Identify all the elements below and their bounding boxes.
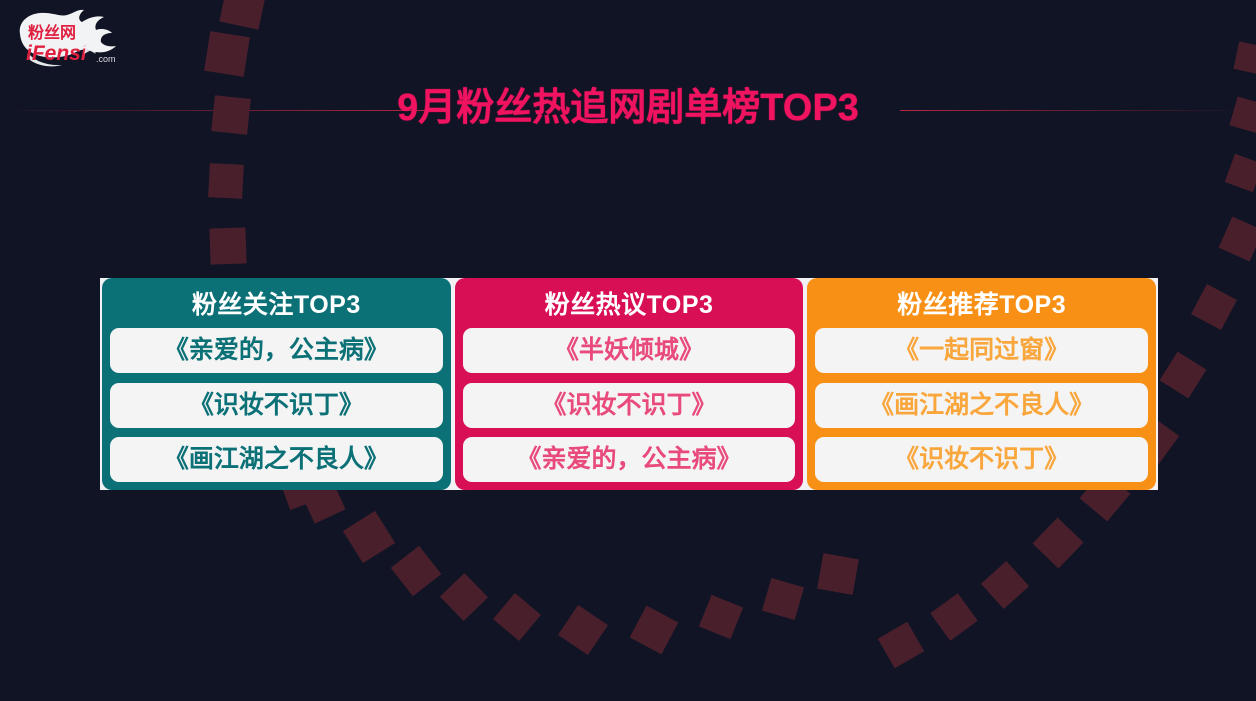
deco-square (817, 553, 859, 595)
deco-square (762, 578, 804, 620)
list-item[interactable]: 《识妆不识丁》 (110, 383, 443, 428)
rankings-panel-strip: 粉丝关注TOP3 《亲爱的，公主病》 《识妆不识丁》 《画江湖之不良人》 粉丝热… (100, 278, 1158, 490)
deco-square (558, 605, 608, 655)
panel-list-fans-discussion: 《半妖倾城》 《识妆不识丁》 《亲爱的，公主病》 (463, 326, 796, 482)
deco-square (1225, 154, 1256, 192)
panel-header-fans-attention: 粉丝关注TOP3 (110, 284, 443, 326)
list-item[interactable]: 《一起同过窗》 (815, 328, 1148, 373)
panel-fans-recommend[interactable]: 粉丝推荐TOP3 《一起同过窗》 《画江湖之不良人》 《识妆不识丁》 (807, 278, 1156, 490)
list-item[interactable]: 《半妖倾城》 (463, 328, 796, 373)
panel-fans-attention[interactable]: 粉丝关注TOP3 《亲爱的，公主病》 《识妆不识丁》 《画江湖之不良人》 (102, 278, 451, 490)
deco-square (208, 163, 244, 199)
deco-square (930, 593, 977, 640)
list-item[interactable]: 《亲爱的，公主病》 (110, 328, 443, 373)
deco-square (981, 561, 1029, 609)
panel-header-fans-recommend: 粉丝推荐TOP3 (815, 284, 1148, 326)
deco-square (630, 606, 679, 655)
panel-list-fans-attention: 《亲爱的，公主病》 《识妆不识丁》 《画江湖之不良人》 (110, 326, 443, 482)
deco-square (391, 546, 442, 597)
deco-square (204, 31, 250, 77)
logo-suffix-text: .com (96, 54, 116, 64)
deco-square (878, 622, 924, 668)
deco-square (493, 593, 541, 641)
list-item[interactable]: 《识妆不识丁》 (815, 437, 1148, 482)
deco-square (1160, 352, 1207, 399)
list-item[interactable]: 《识妆不识丁》 (463, 383, 796, 428)
list-item[interactable]: 《画江湖之不良人》 (815, 383, 1148, 428)
logo-flame-icon: 粉丝网 iFensi .com (12, 8, 124, 70)
page-title: 9月粉丝热追网剧单榜TOP3 (0, 82, 1256, 134)
deco-square (219, 0, 266, 30)
deco-square (1033, 518, 1084, 569)
panel-header-fans-discussion: 粉丝热议TOP3 (463, 284, 796, 326)
deco-square (343, 511, 395, 563)
deco-square (440, 573, 488, 621)
logo-latin-text: iFensi (26, 42, 88, 65)
deco-square (1191, 284, 1237, 330)
list-item[interactable]: 《亲爱的，公主病》 (463, 437, 796, 482)
infographic-canvas: 粉丝网 iFensi .com 9月粉丝热追网剧单榜TOP3 粉丝关注TOP3 … (0, 0, 1256, 701)
deco-square (209, 227, 246, 264)
logo-chinese-text: 粉丝网 (28, 23, 76, 42)
deco-square (699, 595, 743, 639)
deco-square (1219, 217, 1256, 262)
deco-square (1233, 41, 1256, 74)
panel-list-fans-recommend: 《一起同过窗》 《画江湖之不良人》 《识妆不识丁》 (815, 326, 1148, 482)
ifensi-logo[interactable]: 粉丝网 iFensi .com (12, 8, 124, 70)
panel-fans-discussion[interactable]: 粉丝热议TOP3 《半妖倾城》 《识妆不识丁》 《亲爱的，公主病》 (455, 278, 804, 490)
list-item[interactable]: 《画江湖之不良人》 (110, 437, 443, 482)
